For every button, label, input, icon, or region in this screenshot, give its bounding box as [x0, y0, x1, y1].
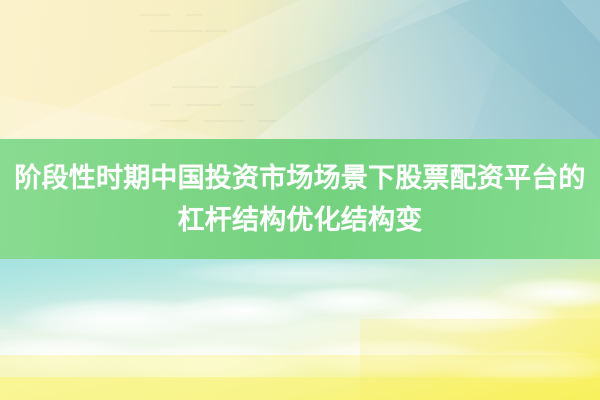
- sky-panel: [0, 259, 600, 400]
- banner-image: 阶段性时期中国投资市场场景下股票配资平台的杠杆结构优化结构变: [0, 0, 600, 400]
- cloud-graphic: [0, 259, 600, 400]
- title-band: 阶段性时期中国投资市场场景下股票配资平台的杠杆结构优化结构变: [0, 139, 600, 259]
- page-title: 阶段性时期中国投资市场场景下股票配资平台的杠杆结构优化结构变: [6, 157, 594, 241]
- top-geometric-panel: [0, 0, 600, 139]
- geometric-facets-graphic: [0, 0, 600, 139]
